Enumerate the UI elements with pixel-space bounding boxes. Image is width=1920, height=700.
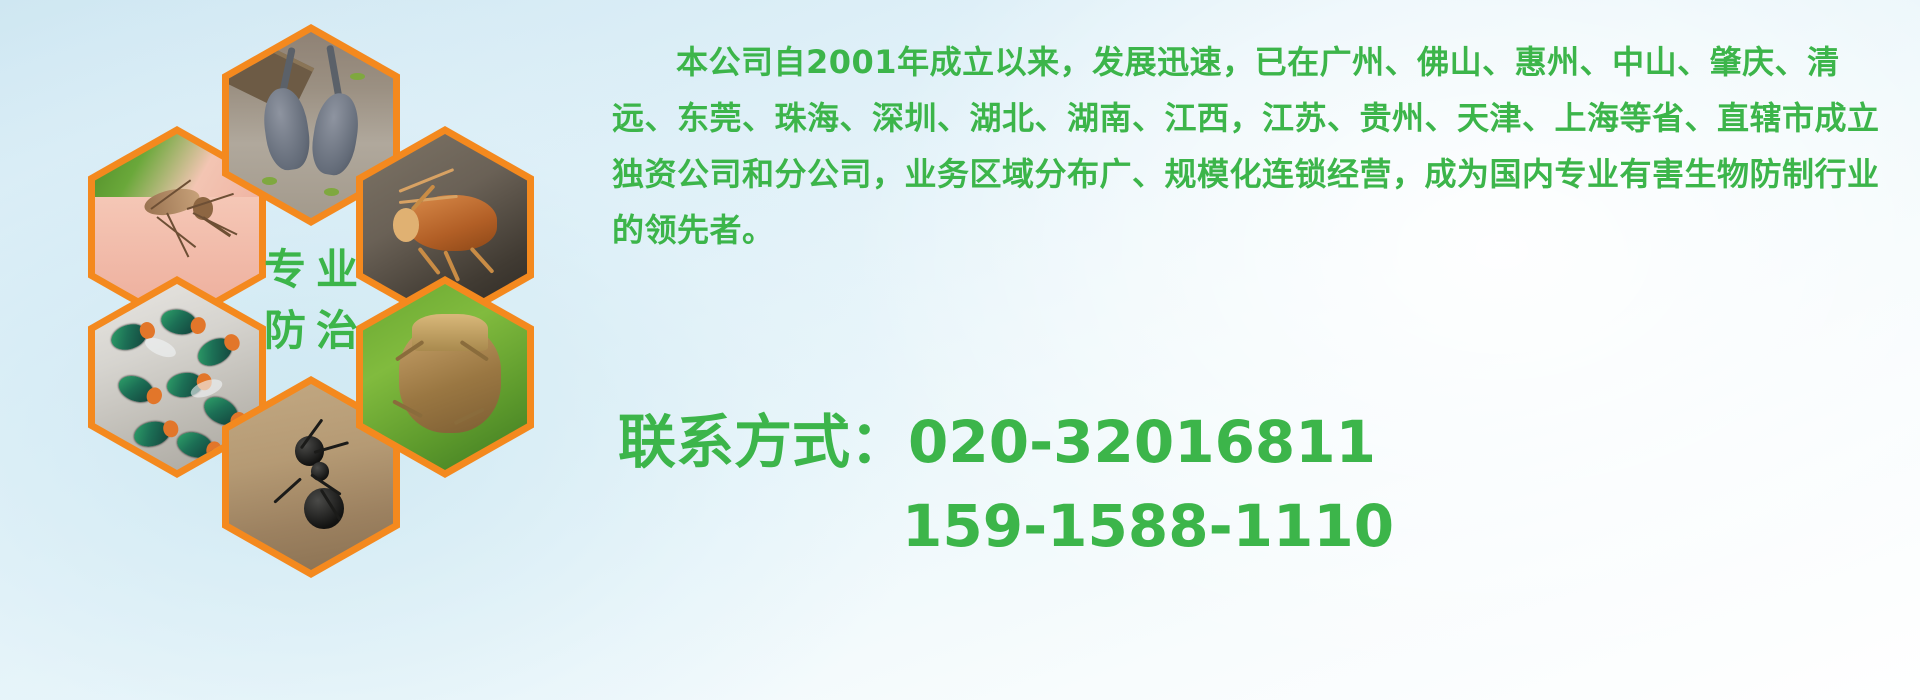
- contact-block: 联系方式：020-32016811 159-1588-1110: [618, 400, 1908, 568]
- contact-line-secondary[interactable]: 159-1588-1110: [618, 484, 1908, 568]
- intro-paragraph-block: 本公司自2001年成立以来，发展迅速，已在广州、佛山、惠州、中山、肇庆、清远、东…: [612, 34, 1902, 258]
- contact-line-primary[interactable]: 联系方式：020-32016811: [618, 400, 1908, 484]
- promo-banner: 专业 防治 本公司自2001年成立以来，发展迅速，已在广州、佛山、惠州、中山、肇…: [0, 0, 1920, 700]
- badge-line-2: 防治: [254, 301, 368, 362]
- badge-line-1: 专业: [254, 240, 368, 301]
- honeycomb-photo-cluster: 专业 防治: [88, 8, 588, 553]
- intro-paragraph: 本公司自2001年成立以来，发展迅速，已在广州、佛山、惠州、中山、肇庆、清远、东…: [612, 34, 1902, 258]
